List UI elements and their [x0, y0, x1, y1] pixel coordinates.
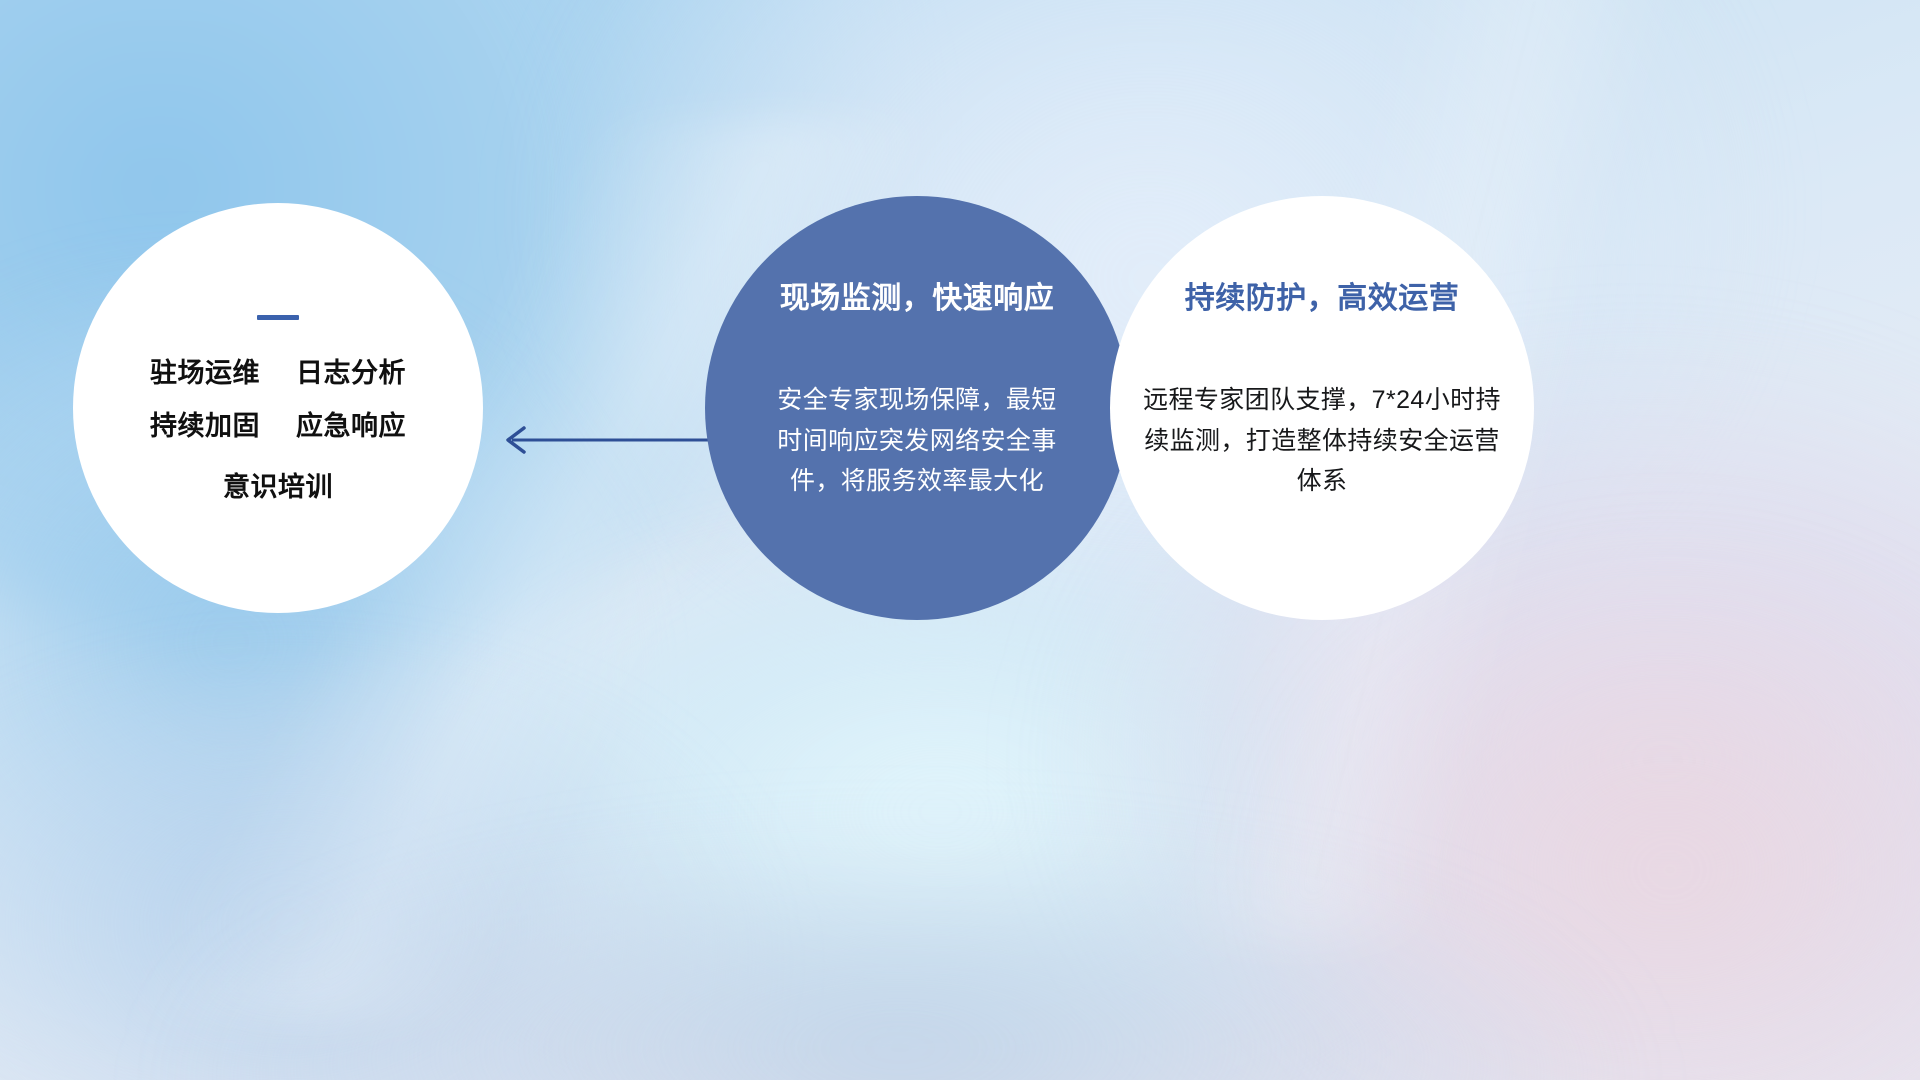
- continuous-protection-circle[interactable]: 持续防护，高效运营 远程专家团队支撑，7*24小时持续监测，打造整体持续安全运营…: [1110, 196, 1534, 620]
- onsite-monitoring-heading: 现场监测，快速响应: [780, 284, 1055, 314]
- capability-tag: 日志分析: [296, 360, 406, 387]
- capability-tag: 意识培训: [223, 474, 333, 501]
- capability-tag: 持续加固: [150, 413, 260, 440]
- capability-tag-row: 驻场运维 日志分析: [150, 360, 406, 387]
- left-arrow-icon: [490, 420, 720, 460]
- left-capability-circle[interactable]: 驻场运维 日志分析 持续加固 应急响应 意识培训: [73, 203, 483, 613]
- capability-tag: 应急响应: [296, 413, 406, 440]
- continuous-protection-heading: 持续防护，高效运营: [1185, 284, 1460, 314]
- capability-tag: 驻场运维: [150, 360, 260, 387]
- capability-tag-list: 驻场运维 日志分析 持续加固 应急响应 意识培训: [150, 360, 406, 501]
- onsite-monitoring-body: 安全专家现场保障，最短时间响应突发网络安全事件，将服务效率最大化: [767, 380, 1067, 502]
- onsite-monitoring-circle[interactable]: 现场监测，快速响应 安全专家现场保障，最短时间响应突发网络安全事件，将服务效率最…: [705, 196, 1129, 620]
- continuous-protection-body: 远程专家团队支撑，7*24小时持续监测，打造整体持续安全运营体系: [1142, 380, 1502, 502]
- horizontal-dash-icon: [257, 315, 299, 320]
- capability-tag-row: 意识培训: [223, 474, 333, 501]
- diagram-stage: 驻场运维 日志分析 持续加固 应急响应 意识培训 现场监测，快速响应 安全专家现…: [0, 0, 1920, 1080]
- capability-tag-row: 持续加固 应急响应: [150, 413, 406, 440]
